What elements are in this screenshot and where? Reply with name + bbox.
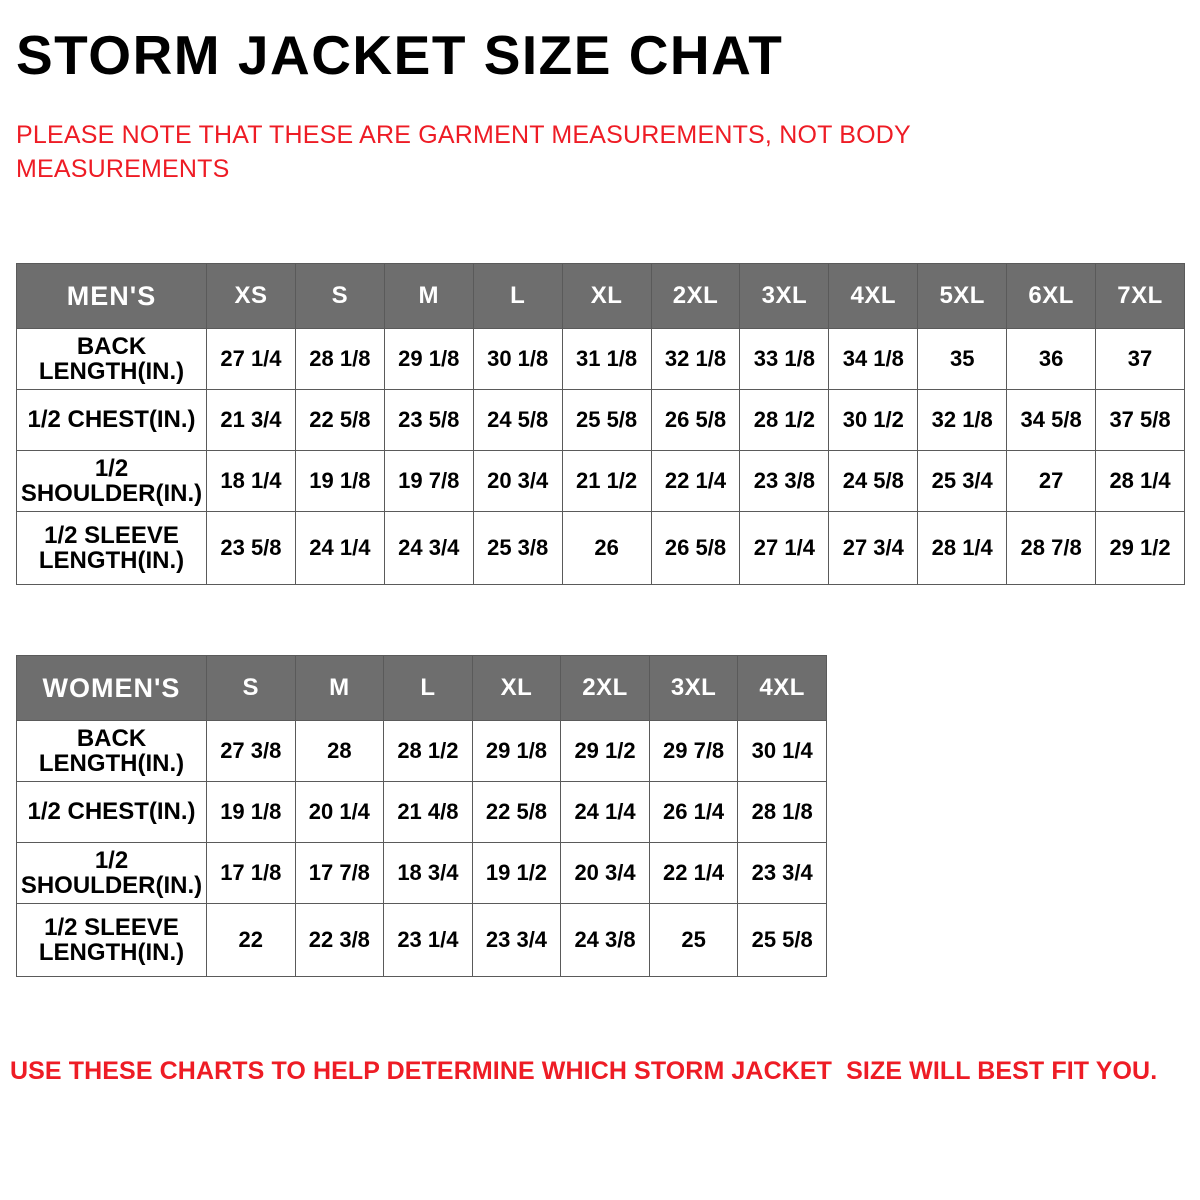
measurement-cell: 35 <box>918 329 1007 390</box>
measurement-cell: 37 <box>1096 329 1185 390</box>
womens-size-table: WOMEN'SSMLXL2XL3XL4XL BACKLENGTH(IN.)27 … <box>16 655 827 977</box>
measurement-cell: 30 1/4 <box>738 721 827 782</box>
table-row: 1/2 SHOULDER(IN.)17 1/817 7/818 3/419 1/… <box>17 843 827 904</box>
page-title: STORM JACKET SIZE CHAT <box>16 24 783 86</box>
measurement-cell: 26 5/8 <box>651 512 740 585</box>
measurement-label: 1/2 SHOULDER(IN.) <box>17 451 207 512</box>
table-header-row: WOMEN'SSMLXL2XL3XL4XL <box>17 656 827 721</box>
size-header-xl: XL <box>562 264 651 329</box>
measurement-label-line: 1/2 SHOULDER(IN.) <box>21 847 202 899</box>
measurement-cell: 21 1/2 <box>562 451 651 512</box>
measurement-cell: 29 1/2 <box>561 721 650 782</box>
measurement-cell: 30 1/8 <box>473 329 562 390</box>
size-header-3xl: 3XL <box>649 656 738 721</box>
measurement-cell: 24 3/8 <box>561 904 650 977</box>
womens-table-body: BACKLENGTH(IN.)27 3/82828 1/229 1/829 1/… <box>17 721 827 977</box>
measurement-cell: 31 1/8 <box>562 329 651 390</box>
measurement-cell: 23 5/8 <box>384 390 473 451</box>
measurement-cell: 32 1/8 <box>651 329 740 390</box>
measurement-cell: 23 1/4 <box>384 904 473 977</box>
measurement-cell: 28 1/4 <box>918 512 1007 585</box>
size-header-7xl: 7XL <box>1096 264 1185 329</box>
size-header-4xl: 4XL <box>738 656 827 721</box>
measurement-cell: 19 1/2 <box>472 843 561 904</box>
size-header-m: M <box>384 264 473 329</box>
measurement-cell: 20 1/4 <box>295 782 384 843</box>
measurement-label-line: BACK <box>77 725 146 752</box>
measurement-cell: 29 7/8 <box>649 721 738 782</box>
size-header-m: M <box>295 656 384 721</box>
measurement-cell: 27 1/4 <box>740 512 829 585</box>
measurement-cell: 24 5/8 <box>473 390 562 451</box>
measurement-cell: 28 7/8 <box>1007 512 1096 585</box>
measurement-cell: 19 1/8 <box>207 782 296 843</box>
measurement-cell: 34 5/8 <box>1007 390 1096 451</box>
measurement-label-line: LENGTH(IN.) <box>39 358 184 385</box>
measurement-label-line: 1/2 SLEEVE <box>44 522 179 549</box>
size-header-4xl: 4XL <box>829 264 918 329</box>
measurement-cell: 22 5/8 <box>295 390 384 451</box>
measurement-label-line: LENGTH(IN.) <box>39 750 184 777</box>
measurement-cell: 24 1/4 <box>295 512 384 585</box>
measurement-cell: 29 1/8 <box>384 329 473 390</box>
measurement-cell: 23 3/8 <box>740 451 829 512</box>
measurement-cell: 22 1/4 <box>651 451 740 512</box>
measurement-cell: 27 3/4 <box>829 512 918 585</box>
size-header-2xl: 2XL <box>561 656 650 721</box>
measurement-cell: 33 1/8 <box>740 329 829 390</box>
womens-corner-header: WOMEN'S <box>17 656 207 721</box>
size-header-xl: XL <box>472 656 561 721</box>
measurement-cell: 26 5/8 <box>651 390 740 451</box>
size-header-3xl: 3XL <box>740 264 829 329</box>
size-selection-help-note: USE THESE CHARTS TO HELP DETERMINE WHICH… <box>10 1055 1180 1087</box>
measurement-cell: 23 3/4 <box>738 843 827 904</box>
size-header-s: S <box>207 656 296 721</box>
measurement-cell: 21 4/8 <box>384 782 473 843</box>
mens-corner-header: MEN'S <box>17 264 207 329</box>
size-header-6xl: 6XL <box>1007 264 1096 329</box>
size-header-l: L <box>473 264 562 329</box>
measurement-label: 1/2 SLEEVELENGTH(IN.) <box>17 512 207 585</box>
measurement-cell: 27 3/8 <box>207 721 296 782</box>
measurement-cell: 28 1/8 <box>295 329 384 390</box>
measurement-cell: 19 7/8 <box>384 451 473 512</box>
measurement-label: 1/2 CHEST(IN.) <box>17 390 207 451</box>
garment-measurement-note: PLEASE NOTE THAT THESE ARE GARMENT MEASU… <box>16 118 976 186</box>
measurement-cell: 21 3/4 <box>207 390 296 451</box>
measurement-label: 1/2 CHEST(IN.) <box>17 782 207 843</box>
measurement-cell: 25 5/8 <box>562 390 651 451</box>
measurement-cell: 30 1/2 <box>829 390 918 451</box>
measurement-label-line: LENGTH(IN.) <box>39 547 184 574</box>
measurement-cell: 28 1/2 <box>740 390 829 451</box>
measurement-cell: 18 3/4 <box>384 843 473 904</box>
measurement-cell: 26 1/4 <box>649 782 738 843</box>
measurement-label-line: BACK <box>77 333 146 360</box>
measurement-cell: 26 <box>562 512 651 585</box>
table-row: 1/2 SHOULDER(IN.)18 1/419 1/819 7/820 3/… <box>17 451 1185 512</box>
measurement-cell: 28 1/4 <box>1096 451 1185 512</box>
measurement-cell: 27 <box>1007 451 1096 512</box>
measurement-cell: 29 1/2 <box>1096 512 1185 585</box>
measurement-label: 1/2 SHOULDER(IN.) <box>17 843 207 904</box>
measurement-label-line: 1/2 SHOULDER(IN.) <box>21 455 202 507</box>
mens-table-body: BACKLENGTH(IN.)27 1/428 1/829 1/830 1/83… <box>17 329 1185 585</box>
table-header-row: MEN'SXSSMLXL2XL3XL4XL5XL6XL7XL <box>17 264 1185 329</box>
measurement-cell: 22 1/4 <box>649 843 738 904</box>
measurement-cell: 29 1/8 <box>472 721 561 782</box>
measurement-cell: 25 5/8 <box>738 904 827 977</box>
table-row: BACKLENGTH(IN.)27 1/428 1/829 1/830 1/83… <box>17 329 1185 390</box>
measurement-cell: 20 3/4 <box>561 843 650 904</box>
measurement-label: BACKLENGTH(IN.) <box>17 721 207 782</box>
measurement-cell: 23 5/8 <box>207 512 296 585</box>
mens-table-header: MEN'SXSSMLXL2XL3XL4XL5XL6XL7XL <box>17 264 1185 329</box>
measurement-cell: 22 3/8 <box>295 904 384 977</box>
table-row: 1/2 SLEEVELENGTH(IN.)23 5/824 1/424 3/42… <box>17 512 1185 585</box>
measurement-cell: 19 1/8 <box>295 451 384 512</box>
measurement-cell: 25 3/4 <box>918 451 1007 512</box>
measurement-cell: 24 5/8 <box>829 451 918 512</box>
measurement-cell: 22 <box>207 904 296 977</box>
table-row: 1/2 CHEST(IN.)19 1/820 1/421 4/822 5/824… <box>17 782 827 843</box>
measurement-cell: 27 1/4 <box>207 329 296 390</box>
measurement-label-line: 1/2 SLEEVE <box>44 914 179 941</box>
measurement-label-line: 1/2 CHEST(IN.) <box>27 798 195 825</box>
measurement-label-line: 1/2 CHEST(IN.) <box>27 406 195 433</box>
measurement-cell: 17 1/8 <box>207 843 296 904</box>
mens-size-table: MEN'SXSSMLXL2XL3XL4XL5XL6XL7XL BACKLENGT… <box>16 263 1185 585</box>
table-row: BACKLENGTH(IN.)27 3/82828 1/229 1/829 1/… <box>17 721 827 782</box>
table-row: 1/2 SLEEVELENGTH(IN.)2222 3/823 1/423 3/… <box>17 904 827 977</box>
measurement-cell: 24 3/4 <box>384 512 473 585</box>
measurement-cell: 25 <box>649 904 738 977</box>
measurement-label-line: LENGTH(IN.) <box>39 939 184 966</box>
measurement-cell: 28 1/8 <box>738 782 827 843</box>
measurement-label: 1/2 SLEEVELENGTH(IN.) <box>17 904 207 977</box>
measurement-cell: 36 <box>1007 329 1096 390</box>
measurement-cell: 32 1/8 <box>918 390 1007 451</box>
size-header-s: S <box>295 264 384 329</box>
measurement-cell: 23 3/4 <box>472 904 561 977</box>
measurement-cell: 25 3/8 <box>473 512 562 585</box>
size-header-2xl: 2XL <box>651 264 740 329</box>
measurement-cell: 37 5/8 <box>1096 390 1185 451</box>
table-row: 1/2 CHEST(IN.)21 3/422 5/823 5/824 5/825… <box>17 390 1185 451</box>
measurement-cell: 24 1/4 <box>561 782 650 843</box>
measurement-cell: 20 3/4 <box>473 451 562 512</box>
measurement-cell: 34 1/8 <box>829 329 918 390</box>
size-header-5xl: 5XL <box>918 264 1007 329</box>
measurement-label: BACKLENGTH(IN.) <box>17 329 207 390</box>
measurement-cell: 17 7/8 <box>295 843 384 904</box>
measurement-cell: 22 5/8 <box>472 782 561 843</box>
size-header-xs: XS <box>207 264 296 329</box>
measurement-cell: 18 1/4 <box>207 451 296 512</box>
womens-table-header: WOMEN'SSMLXL2XL3XL4XL <box>17 656 827 721</box>
measurement-cell: 28 <box>295 721 384 782</box>
measurement-cell: 28 1/2 <box>384 721 473 782</box>
size-header-l: L <box>384 656 473 721</box>
